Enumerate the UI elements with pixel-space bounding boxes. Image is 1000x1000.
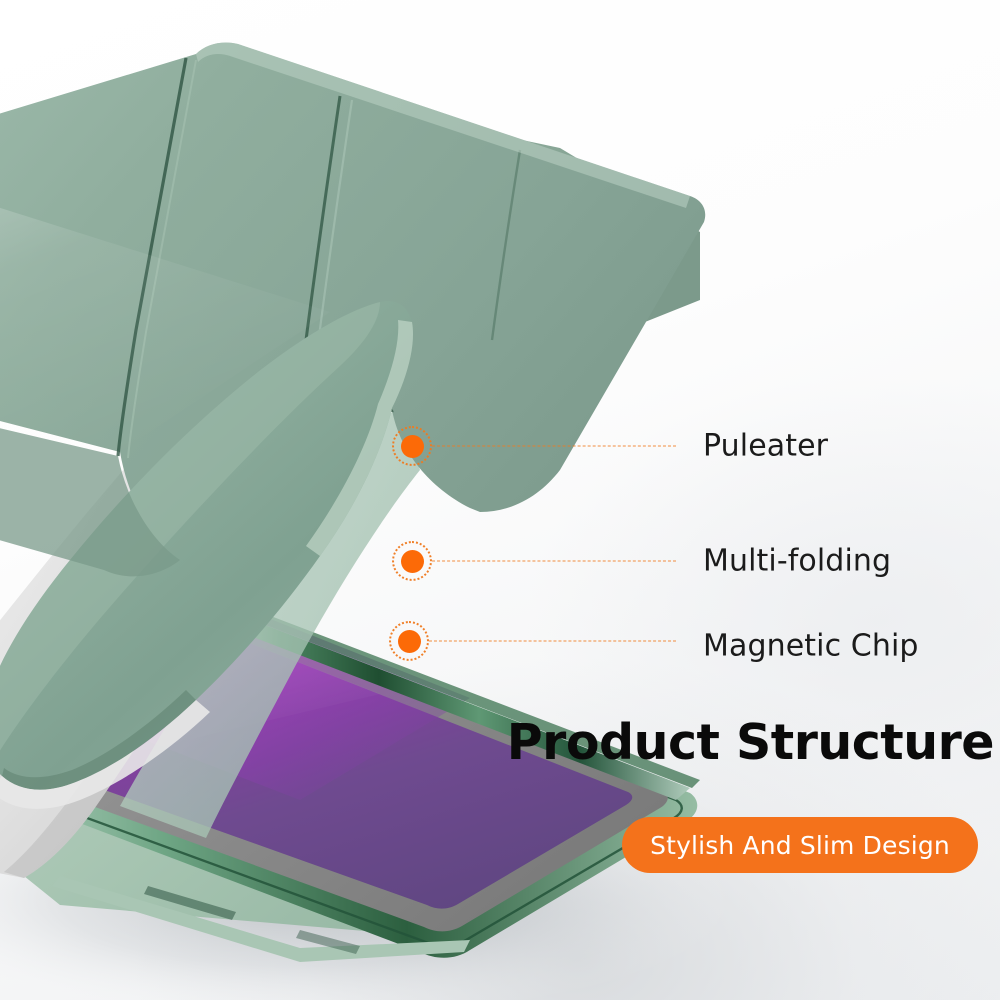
marker-dot-icon bbox=[401, 550, 424, 573]
leader-line-3 bbox=[429, 641, 676, 642]
callout-label-puleater: Puleater bbox=[703, 429, 828, 464]
marker-dot-icon bbox=[398, 630, 421, 653]
callout-label-multi-folding: Multi-folding bbox=[703, 544, 891, 579]
tagline-badge-label: Stylish And Slim Design bbox=[650, 831, 950, 860]
callout-marker-puleater[interactable] bbox=[392, 426, 432, 466]
callout-marker-magnetic-chip[interactable] bbox=[389, 621, 429, 661]
product-infographic: Puleater Multi-folding Magnetic Chip Pro… bbox=[0, 0, 1000, 1000]
leader-line-2 bbox=[432, 561, 676, 562]
leader-line-1 bbox=[432, 446, 676, 447]
page-title: Product Structure bbox=[502, 714, 994, 771]
callout-label-magnetic-chip: Magnetic Chip bbox=[703, 629, 919, 664]
marker-dot-icon bbox=[401, 435, 424, 458]
callout-marker-multi-folding[interactable] bbox=[392, 541, 432, 581]
tagline-badge: Stylish And Slim Design bbox=[622, 817, 978, 873]
